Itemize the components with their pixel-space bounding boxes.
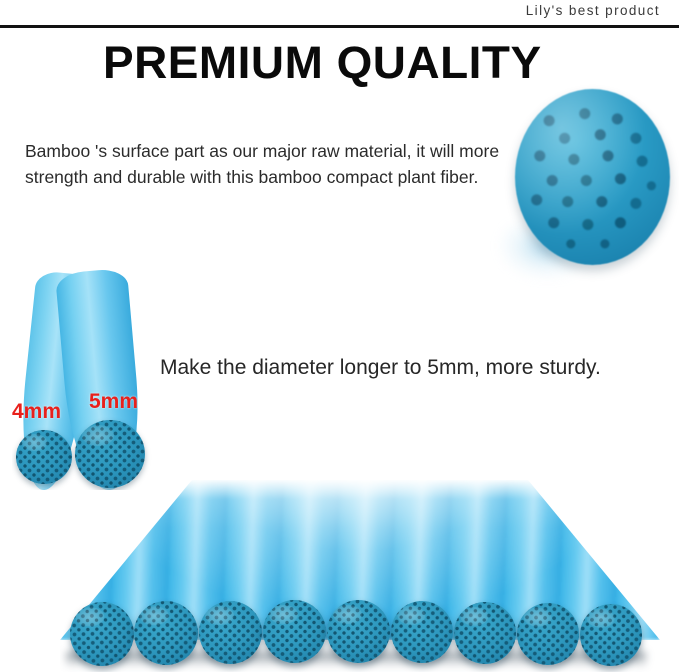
description-paragraph: Bamboo 's surface part as our major raw … [25, 138, 500, 190]
header-divider [0, 25, 679, 28]
diameter-caption: Make the diameter longer to 5mm, more st… [160, 356, 601, 380]
straw-end-face [390, 600, 453, 663]
straw-end-face [133, 600, 198, 665]
brand-header: Lily's best product [0, 2, 679, 26]
straw-end-face [199, 601, 262, 664]
page-title: PREMIUM QUALITY [103, 37, 542, 89]
straw-end-face [69, 601, 135, 667]
straw-end-face [516, 602, 580, 666]
straw-end-4mm [16, 430, 72, 484]
end-highlight [205, 606, 233, 625]
end-highlight [333, 605, 361, 624]
straw-end-5mm [75, 420, 145, 488]
end-highlight [523, 607, 552, 627]
straw-bundle-photo [60, 480, 660, 672]
macro-cross-section-photo [497, 84, 677, 274]
straw-end-face [453, 601, 516, 664]
straw-pair-photo [12, 268, 164, 490]
disc-highlight [515, 89, 670, 265]
straw-end-face [327, 600, 390, 663]
product-marketing-image: Lily's best product PREMIUM QUALITY Bamb… [0, 0, 679, 672]
straw-end-face [263, 600, 326, 663]
end-highlight [269, 605, 297, 624]
end-highlight [397, 606, 425, 625]
straw-end-face [579, 603, 643, 667]
end-highlight [82, 425, 114, 445]
end-highlight [22, 434, 47, 450]
diameter-label-4mm: 4mm [12, 400, 61, 424]
diameter-label-5mm: 5mm [89, 390, 138, 414]
end-highlight [586, 608, 615, 628]
end-highlight [460, 607, 488, 626]
straw-cross-section-disc [515, 89, 670, 265]
brand-name: Lily's best product [526, 3, 660, 18]
